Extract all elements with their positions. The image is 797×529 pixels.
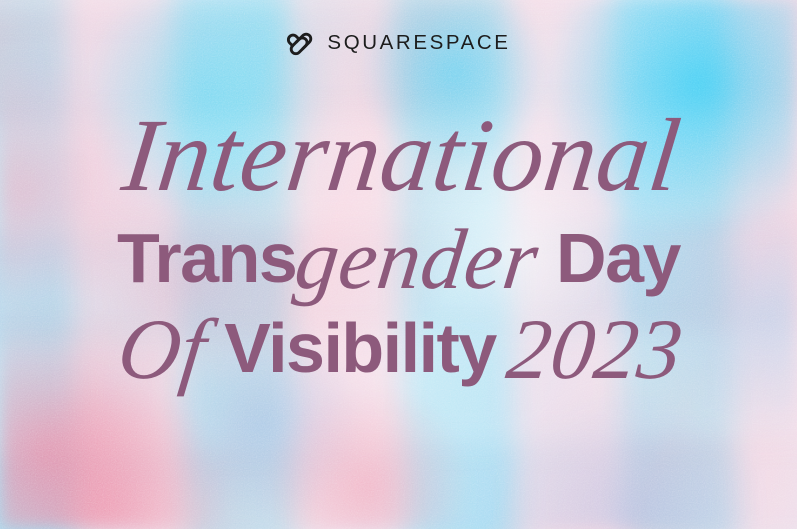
headline-word-gender: gender	[291, 216, 543, 302]
poster-canvas: SQUARESPACE International Transgender Da…	[0, 0, 797, 529]
poster-content: SQUARESPACE International Transgender Da…	[0, 0, 797, 529]
headline-word-trans: Trans	[117, 219, 296, 297]
headline-word-international: International	[117, 104, 685, 208]
headline-line-2: Transgender Day	[0, 210, 797, 296]
headline-word-day: Day	[556, 219, 680, 297]
headline-block: International Transgender Day Of Visibil…	[0, 104, 797, 386]
headline-line-3: Of Visibility2023	[0, 300, 797, 386]
headline-word-of: Of	[114, 306, 212, 392]
squarespace-logo-mark-icon	[286, 28, 316, 58]
headline-word-year: 2023	[503, 306, 688, 392]
headline-word-visibility: Visibility	[224, 309, 496, 387]
squarespace-wordmark: SQUARESPACE	[327, 33, 510, 54]
brand-lockup: SQUARESPACE	[0, 28, 797, 58]
headline-line-1: International	[0, 104, 797, 208]
